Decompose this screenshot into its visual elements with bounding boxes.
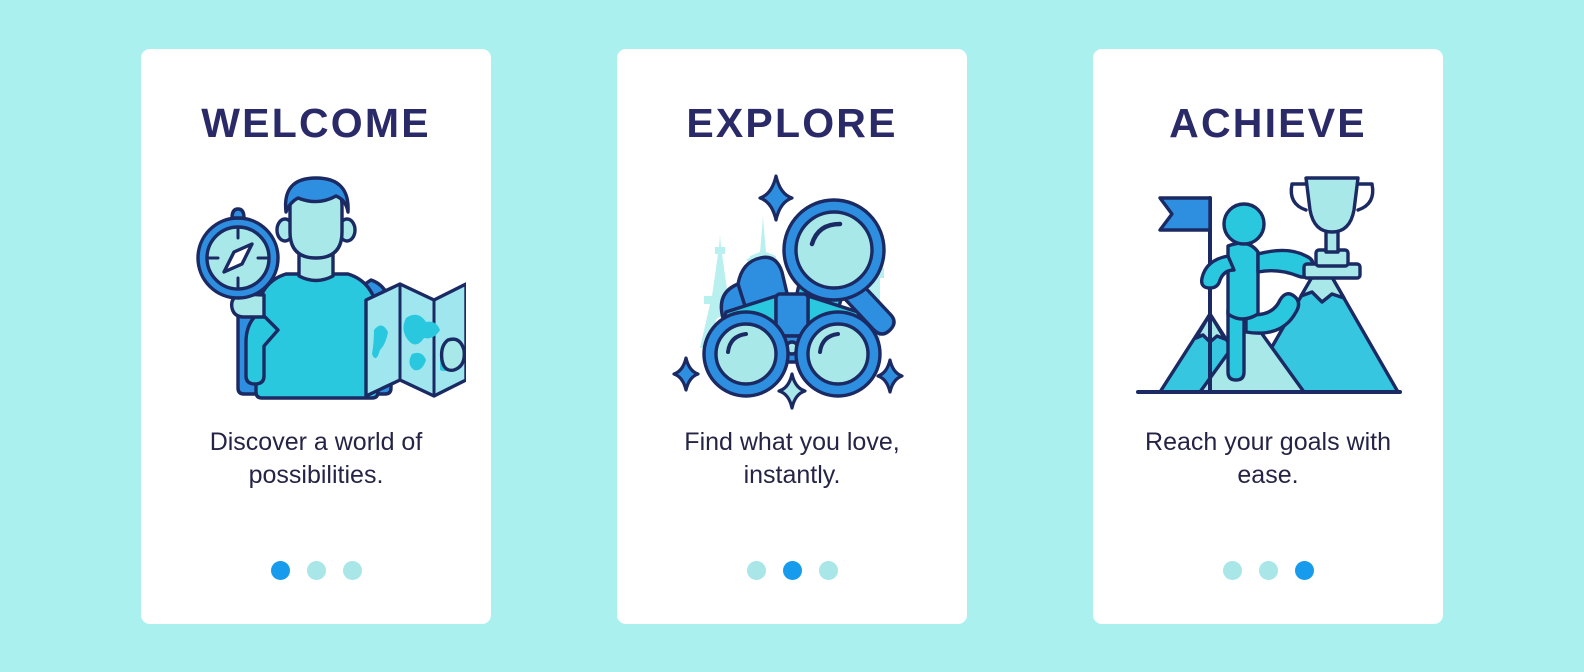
- onboarding-carousel: WELCOME: [0, 0, 1584, 672]
- pagination-dot-2[interactable]: [1259, 561, 1278, 580]
- card-caption: Discover a world of possibilities.: [171, 426, 461, 493]
- page-title: ACHIEVE: [1169, 103, 1367, 144]
- pagination-dot-3[interactable]: [1295, 561, 1314, 580]
- mountain-summit-trophy-illustration: [1118, 162, 1418, 412]
- pagination-dot-3[interactable]: [819, 561, 838, 580]
- card-caption: Reach your goals with ease.: [1123, 426, 1413, 493]
- card-caption: Find what you love, instantly.: [647, 426, 937, 493]
- pagination-dot-2[interactable]: [307, 561, 326, 580]
- pagination-dots[interactable]: [617, 561, 967, 580]
- pagination-dot-1[interactable]: [747, 561, 766, 580]
- pagination-dots[interactable]: [141, 561, 491, 580]
- pagination-dot-2[interactable]: [783, 561, 802, 580]
- onboarding-card-welcome[interactable]: WELCOME: [141, 49, 491, 624]
- pagination-dots[interactable]: [1093, 561, 1443, 580]
- pagination-dot-3[interactable]: [343, 561, 362, 580]
- binoculars-magnifier-landmarks-illustration: [642, 162, 942, 412]
- traveler-with-compass-and-map-illustration: [166, 162, 466, 412]
- onboarding-card-explore[interactable]: EXPLORE: [617, 49, 967, 624]
- pagination-dot-1[interactable]: [271, 561, 290, 580]
- onboarding-card-achieve[interactable]: ACHIEVE: [1093, 49, 1443, 624]
- pagination-dot-1[interactable]: [1223, 561, 1242, 580]
- page-title: EXPLORE: [686, 103, 897, 144]
- page-title: WELCOME: [201, 103, 431, 144]
